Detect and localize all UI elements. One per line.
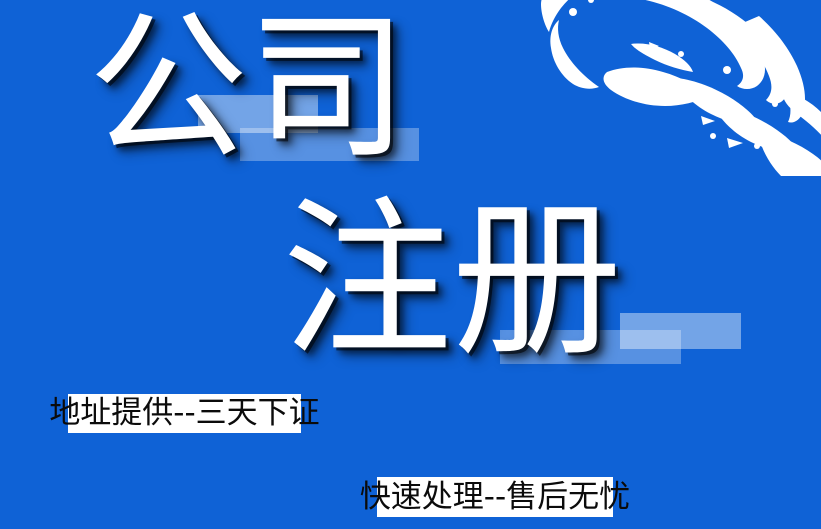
headline-line-2: 注册 [282, 196, 622, 366]
caption-service-box: 快速处理--售后无忧 [377, 477, 613, 517]
poster-canvas: 公司 注册 地址提供--三天下证 快速处理--售后无忧 [0, 0, 821, 529]
caption-address-box: 地址提供--三天下证 [68, 394, 301, 433]
brush-swirl-icon [531, 0, 821, 176]
headline-line-1: 公司 [88, 8, 408, 168]
